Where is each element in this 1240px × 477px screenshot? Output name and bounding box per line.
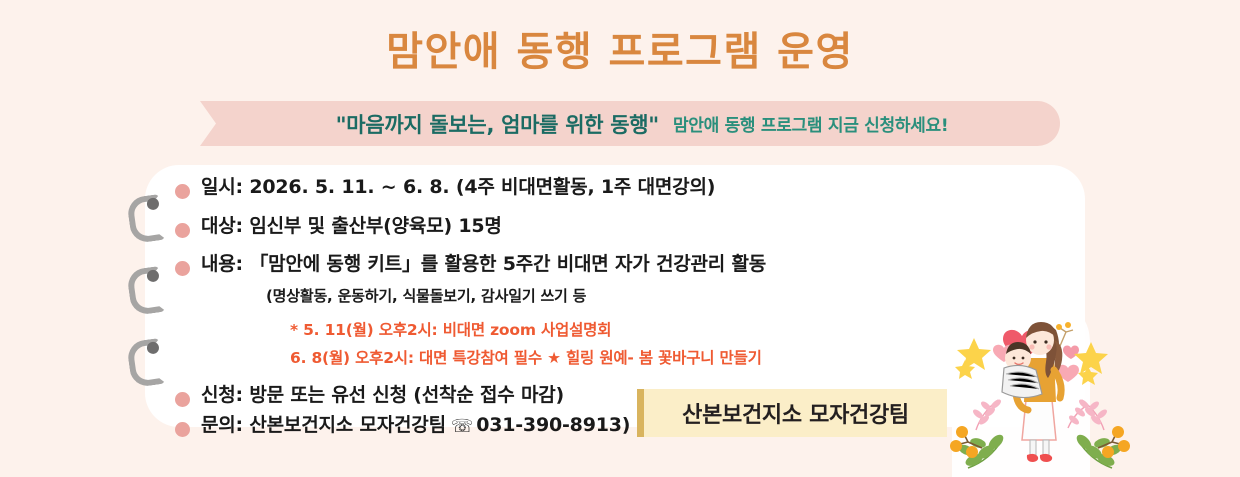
page-title: 맘안애 동행 프로그램 운영: [0, 32, 1240, 72]
list-item-content-text: 내용: 「맘안에 동행 키트」를 활용한 5주간 비대면 자가 건강관리 활동: [201, 255, 766, 274]
list-item-target-text: 대상: 임신부 및 출산부(양육모) 15명: [201, 217, 502, 236]
list-item-target: 대상: 임신부 및 출산부(양육모) 15명: [175, 217, 995, 238]
bullet-dot-icon: [175, 223, 190, 238]
binding-ring-icon: [126, 266, 166, 316]
bullet-dot-icon: [175, 422, 190, 437]
banner-tagline-text: 맘안애 동행 프로그램 지금 신청하세요!: [673, 111, 948, 136]
poster-root: 맘안애 동행 프로그램 운영 "마음까지 돌보는, 엄마를 위한 동행" 맘안애…: [0, 0, 1240, 477]
subtitle-banner: "마음까지 돌보는, 엄마를 위한 동행" 맘안애 동행 프로그램 지금 신청하…: [200, 101, 1060, 146]
banner-quote-text: "마음까지 돌보는, 엄마를 위한 동행": [336, 109, 659, 139]
phone-handset-icon: ☏: [451, 418, 473, 436]
list-item-date-text: 일시: 2026. 5. 11. ~ 6. 8. (4주 비대면활동, 1주 대…: [201, 178, 715, 197]
contact-label: 문의: 산본보건지소 모자건강팀: [201, 414, 446, 436]
department-banner: 산본보건지소 모자건강팀: [637, 389, 947, 437]
list-item-contact-text: 문의: 산본보건지소 모자건강팀☏031-390-8913): [201, 416, 630, 435]
bullet-dot-icon: [175, 261, 190, 276]
binding-ring-icon: [126, 194, 166, 244]
department-banner-text: 산본보건지소 모자건강팀: [682, 397, 909, 429]
note-line-1: * 5. 11(월) 오후2시: 비대면 zoom 사업설명회: [290, 318, 995, 340]
contact-phone-number: 031-390-8913): [476, 414, 630, 436]
list-item-apply-text: 신청: 방문 또는 유선 신청 (선착순 접수 마감): [201, 386, 564, 405]
bullet-dot-icon: [175, 184, 190, 199]
list-item-content: 내용: 「맘안에 동행 키트」를 활용한 5주간 비대면 자가 건강관리 활동: [175, 255, 995, 276]
note-line-2: 6. 8(월) 오후2시: 대면 특강참여 필수 ★ 힐링 원예- 봄 꽃바구니…: [290, 346, 995, 368]
list-item-date: 일시: 2026. 5. 11. ~ 6. 8. (4주 비대면활동, 1주 대…: [175, 178, 995, 199]
bullet-dot-icon: [175, 392, 190, 407]
content-sub-line: (명상활동, 운동하기, 식물돌보기, 감사일기 쓰기 등: [266, 285, 995, 306]
binding-ring-icon: [126, 338, 166, 388]
